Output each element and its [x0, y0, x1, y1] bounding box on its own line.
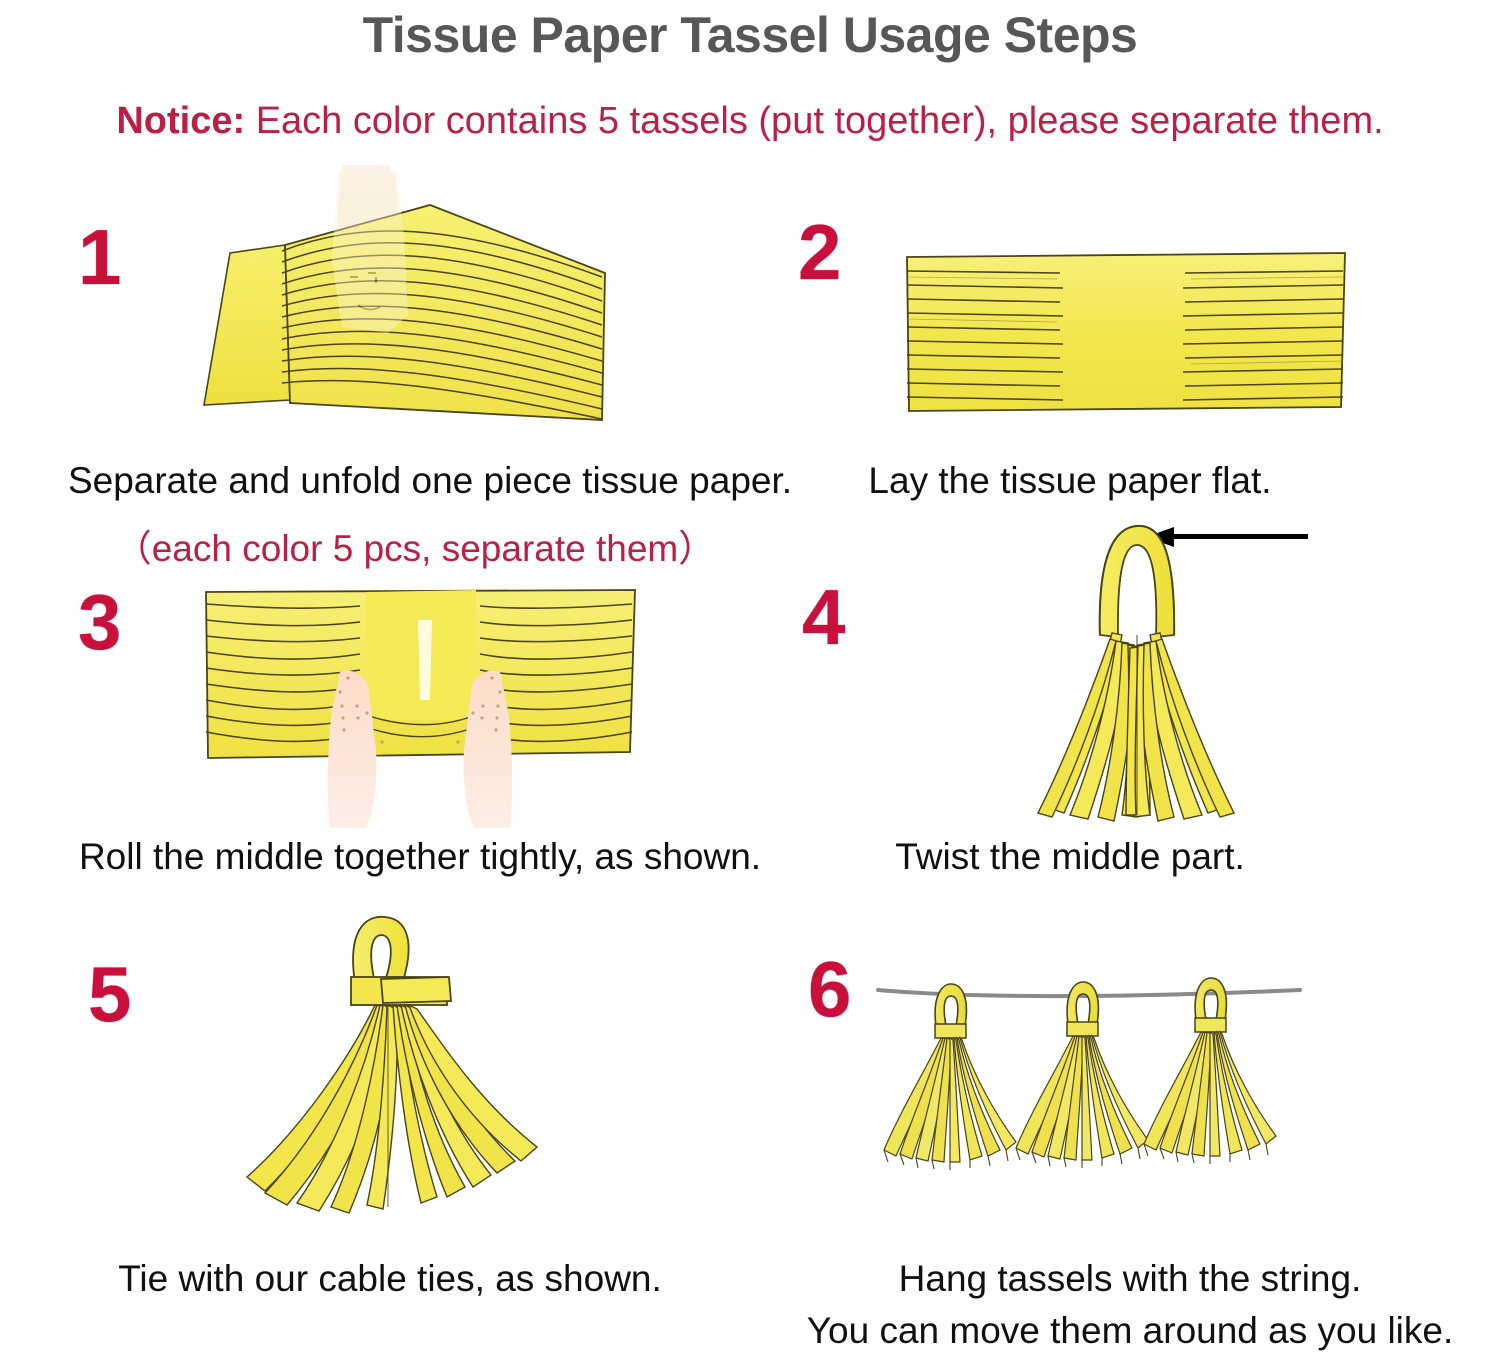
page-title: Tissue Paper Tassel Usage Steps [0, 6, 1500, 64]
flat-fringed-sheet-illustration [885, 225, 1365, 425]
step-number-2: 2 [798, 213, 841, 291]
step-3-caption: Roll the middle together tightly, as sho… [0, 836, 840, 878]
notice-label: Notice: [116, 100, 245, 142]
fringed-sheet-in-hand-illustration [190, 165, 630, 435]
step-number-4: 4 [802, 578, 845, 656]
notice-line: Notice: Each color contains 5 tassels (p… [0, 100, 1500, 143]
step-5-caption: Tie with our cable ties, as shown. [0, 1258, 780, 1300]
three-hanging-tassels-on-string-illustration [860, 960, 1310, 1210]
step-6-sub-caption: You can move them around as you like. [760, 1310, 1500, 1352]
step-number-5: 5 [88, 955, 131, 1033]
tassel-with-cable-tie-illustration [225, 905, 595, 1235]
step-number-1: 1 [78, 218, 121, 296]
notice-text: Each color contains 5 tassels (put toget… [245, 100, 1384, 142]
twisted-loop-tassel-illustration [960, 515, 1360, 835]
cable-tie-band [351, 977, 451, 1005]
step-1-sub-caption: （each color 5 pcs, separate them） [0, 518, 830, 572]
step-number-3: 3 [78, 583, 121, 661]
two-hands-rolling-middle-illustration [180, 580, 660, 830]
step-6-caption: Hang tassels with the string. [760, 1258, 1500, 1300]
hand-overlay-shape [332, 171, 408, 333]
arrow-left-icon [1146, 527, 1308, 547]
step-1-caption: Separate and unfold one piece tissue pap… [0, 460, 860, 502]
step-4-caption: Twist the middle part. [760, 836, 1380, 878]
step-number-6: 6 [808, 950, 851, 1028]
step-2-caption: Lay the tissue paper flat. [760, 460, 1380, 502]
